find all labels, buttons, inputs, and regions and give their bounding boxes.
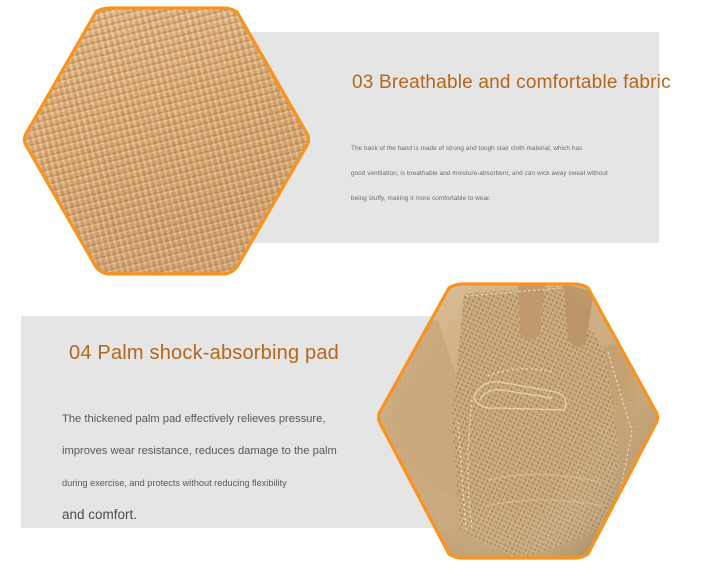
palm-hexagon-svg [368,280,668,562]
body-line: and comfort. [62,499,337,531]
palm-texture [358,274,668,570]
body-line: being stuffy, making it more comfortable… [351,186,608,211]
body-line: improves wear resistance, reduces damage… [62,435,337,467]
section-03-body-text: The back of the hand is made of strong a… [351,136,608,211]
body-line: The back of the hand is made of strong a… [351,136,608,161]
fabric-texture [14,4,319,282]
section-04-heading: 04 Palm shock-absorbing pad [69,342,339,365]
body-line: The thickened palm pad effectively relie… [62,403,337,435]
body-line: good ventilation, is breathable and mois… [351,161,608,186]
product-feature-page: 03 Breathable and comfortable fabric The… [0,0,703,574]
section-03-hexagon-image [14,4,319,282]
fabric-hexagon-svg [14,4,319,282]
section-04-body-text: The thickened palm pad effectively relie… [62,403,337,531]
body-line: during exercise, and protects without re… [62,467,337,499]
section-03-heading: 03 Breathable and comfortable fabric [352,72,671,94]
section-04-hexagon-image [368,280,668,562]
